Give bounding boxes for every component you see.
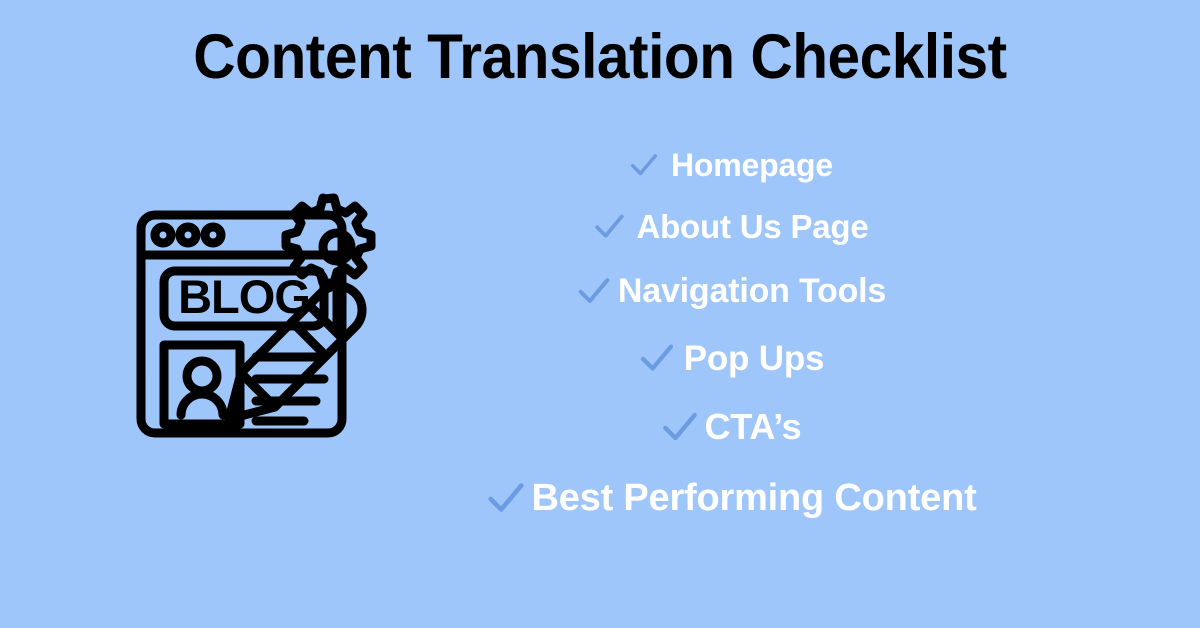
checklist-item[interactable]: About Us Page <box>591 208 868 245</box>
checklist-item[interactable]: CTA’s <box>658 405 801 449</box>
checklist-item-label: Navigation Tools <box>618 274 886 308</box>
window-dot-1 <box>155 227 171 243</box>
check-icon <box>658 405 702 449</box>
checklist-item[interactable]: Pop Ups <box>636 337 825 379</box>
checklist-item[interactable]: Navigation Tools <box>574 271 886 311</box>
avatar-head-icon <box>187 361 217 391</box>
checklist-item-label: About Us Page <box>636 210 868 243</box>
poster-canvas: Content Translation Checklist BLOG <box>0 0 1200 628</box>
window-dot-2 <box>180 227 196 243</box>
check-icon <box>627 148 661 182</box>
check-icon <box>483 475 529 521</box>
avatar-body-icon <box>181 394 223 415</box>
blog-label: BLOG <box>178 270 310 323</box>
window-dot-3 <box>205 227 221 243</box>
checklist-item[interactable]: Best Performing Content <box>483 475 976 521</box>
checklist-item[interactable]: Homepage <box>627 148 833 182</box>
page-title: Content Translation Checklist <box>42 24 1158 90</box>
checklist-item-label: CTA’s <box>704 409 801 445</box>
check-icon <box>636 337 678 379</box>
blog-window-illustration: BLOG <box>128 193 390 443</box>
checklist-item-label: Best Performing Content <box>531 479 976 517</box>
checklist-item-label: Pop Ups <box>684 341 825 376</box>
checklist: Homepage About Us Page Navigation Tools <box>400 148 1060 521</box>
check-icon <box>574 271 614 311</box>
checklist-item-label: Homepage <box>671 149 833 181</box>
check-icon <box>591 208 628 245</box>
